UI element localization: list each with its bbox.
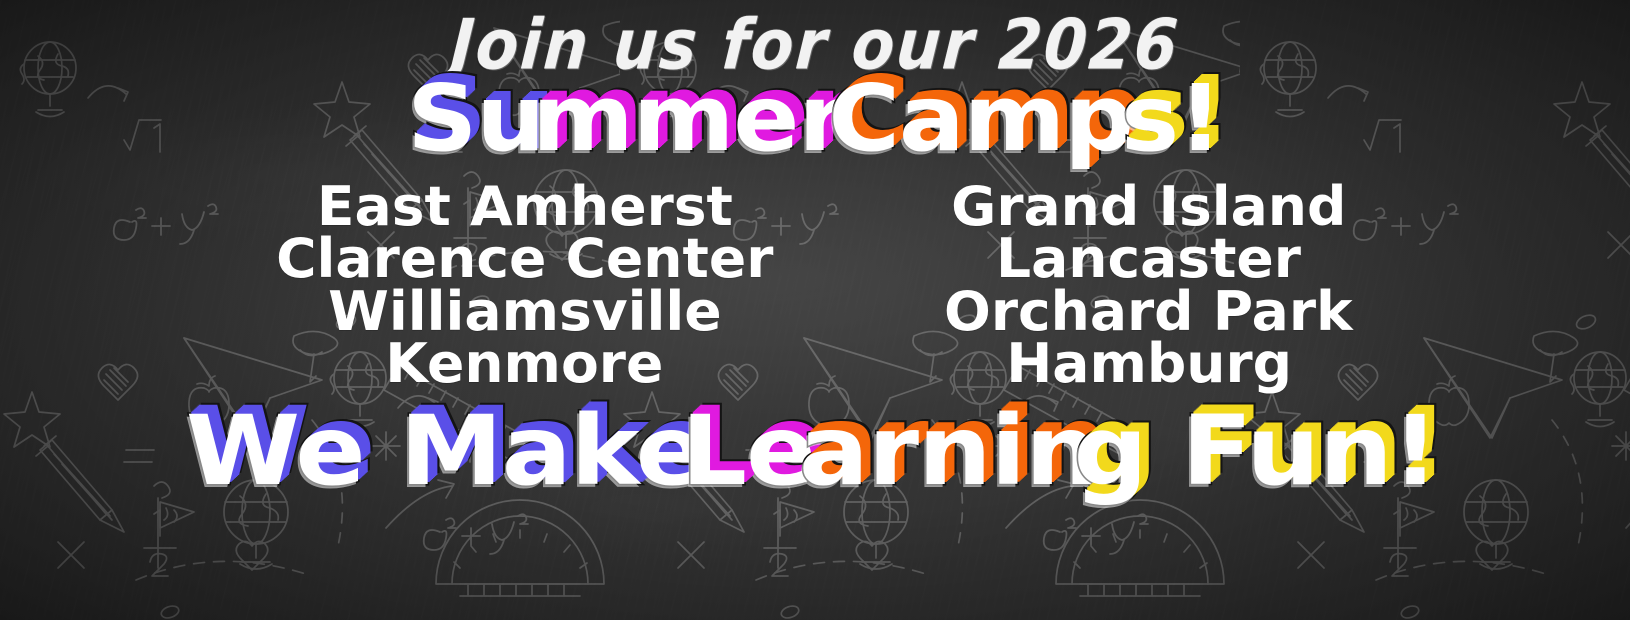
location-williamsville: Williamsville: [328, 286, 722, 338]
locations-left-column: East Amherst Clarence Center Williamsvil…: [281, 181, 768, 391]
location-clarence-center: Clarence Center: [276, 233, 773, 285]
location-lancaster: Lancaster: [996, 233, 1301, 285]
tagline-we-make-learning-fun: We Make Le arnin g Fun!: [205, 403, 1424, 499]
tagline-segment-arnin: arnin: [799, 403, 1098, 499]
banner-content: Join us for our 2026 Su mmer Camp s! Eas…: [0, 0, 1630, 620]
tagline-segment-le: Le: [681, 403, 815, 499]
summer-camps-banner: Join us for our 2026 Su mmer Camp s! Eas…: [0, 0, 1630, 620]
title-segment-s: s!: [1121, 73, 1221, 165]
tagline-segment-we-make: We Make: [186, 403, 705, 499]
tagline-segment-g-fun: g Fun!: [1074, 403, 1438, 499]
locations-block: East Amherst Clarence Center Williamsvil…: [0, 181, 1630, 391]
title-segment-camp: Camp: [828, 73, 1133, 165]
location-hamburg: Hamburg: [1006, 338, 1292, 390]
title-summer-camps: Su mmer Camp s!: [411, 73, 1218, 165]
title-segment-mmer: mmer: [532, 73, 845, 165]
locations-right-column: Grand Island Lancaster Orchard Park Hamb…: [948, 181, 1349, 391]
location-kenmore: Kenmore: [386, 338, 664, 390]
location-east-amherst: East Amherst: [317, 181, 733, 233]
location-orchard-park: Orchard Park: [944, 286, 1353, 338]
title-segment-su: Su: [407, 73, 545, 165]
location-grand-island: Grand Island: [951, 181, 1346, 233]
